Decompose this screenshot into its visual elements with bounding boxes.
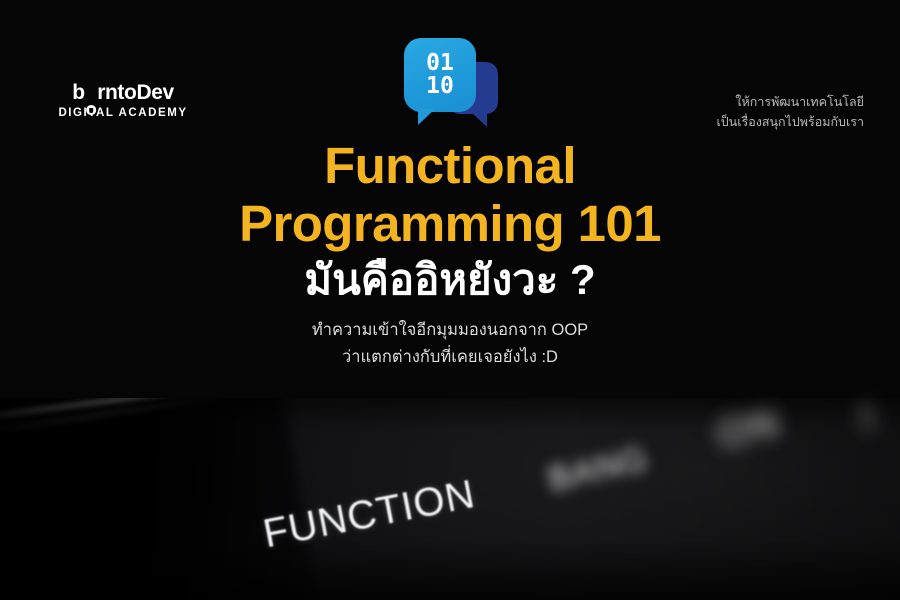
title-line-1: Functional: [0, 137, 900, 195]
brand-name-suffix: rntoDev: [97, 81, 174, 104]
subtitle-thai: มันคืออิหยังวะ ?: [0, 255, 900, 305]
headline-block: Functional Programming 101 มันคืออิหยังว…: [0, 137, 900, 371]
speech-bubble-front-icon: 01 10: [404, 38, 476, 112]
brand-name-prefix: b: [72, 81, 84, 104]
slide-canvas: brntoDev DIGITAL ACADEMY 01 10 ให้การพัฒ…: [0, 0, 900, 600]
binary-chat-bubble-icon: 01 10: [398, 34, 504, 134]
description-line-2: ว่าแตกต่างกับที่เคยเจอยังไง :D: [0, 344, 900, 371]
brand-logo: brntoDev DIGITAL ACADEMY: [38, 82, 208, 119]
description-line-1: ทำความเข้าใจอีกมุมมองนอกจาก OOP: [0, 317, 900, 344]
tagline-line-2: เป็นเรื่องสนุกไปพร้อมกับเรา: [716, 112, 864, 132]
title-line-2: Programming 101: [0, 195, 900, 253]
tagline: ให้การพัฒนาเทคโนโลยี เป็นเรื่องสนุกไปพร้…: [716, 92, 864, 133]
description: ทำความเข้าใจอีกมุมมองนอกจาก OOP ว่าแตกต่…: [0, 317, 900, 371]
binary-top: 01: [426, 52, 454, 75]
brand-subtitle: DIGITAL ACADEMY: [38, 107, 208, 119]
header-panel: brntoDev DIGITAL ACADEMY 01 10 ให้การพัฒ…: [0, 0, 900, 400]
tagline-line-1: ให้การพัฒนาเทคโนโลยี: [716, 92, 864, 112]
photo-foreground-slab: [0, 398, 319, 600]
binary-bottom: 10: [426, 75, 454, 98]
brand-name: brntoDev: [38, 82, 208, 104]
